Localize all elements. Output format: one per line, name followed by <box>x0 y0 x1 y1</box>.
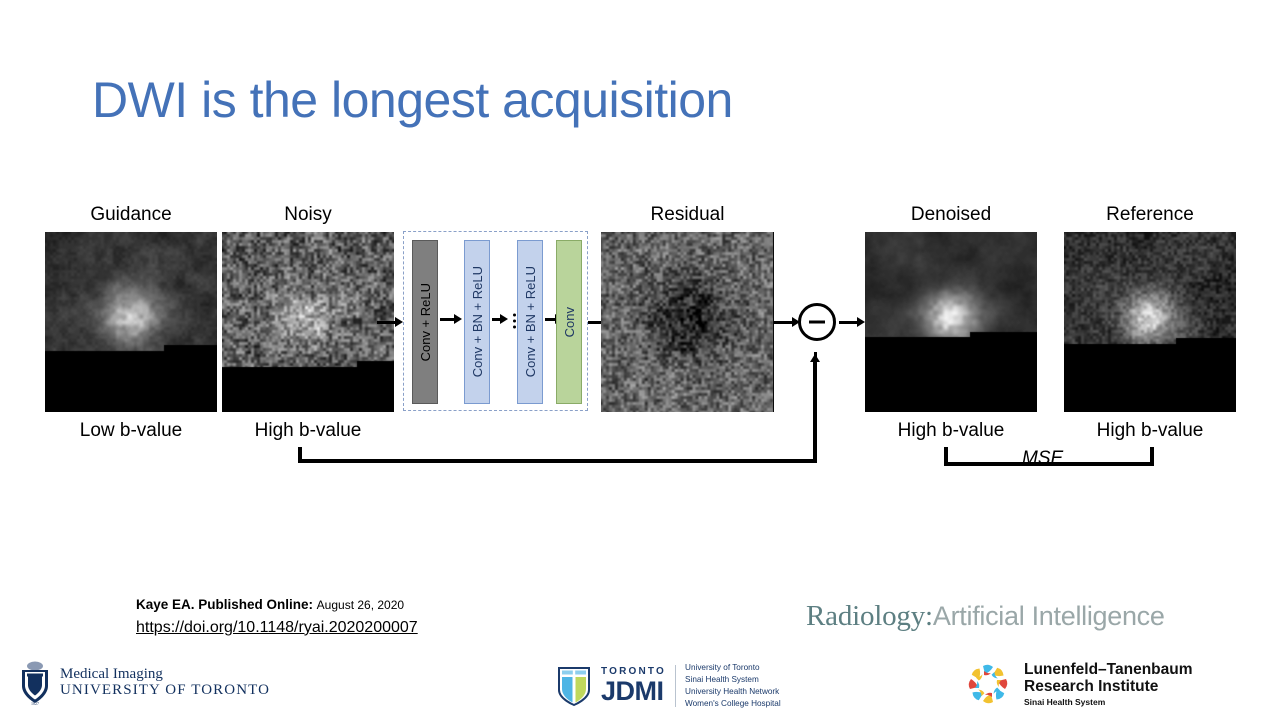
jdmi-shield-icon <box>556 664 592 708</box>
panel-noisy-bottom-label: High b-value <box>222 420 394 442</box>
jdmi-partner-1: University of Toronto <box>685 662 781 674</box>
network-layer-3: Conv + BN + ReLU <box>517 240 543 404</box>
cnn-block: Conv + ReLU Conv + BN + ReLU Conv + BN +… <box>403 231 588 411</box>
jdmi-wordmark: TORONTO JDMI <box>601 667 666 705</box>
network-layer-4-label: Conv <box>562 307 577 337</box>
citation-line-1: Kaye EA. Published Online: August 26, 20… <box>136 595 418 615</box>
panel-denoised-top-label: Denoised <box>865 204 1037 226</box>
jdmi-acronym: JDMI <box>601 678 666 705</box>
skip-connection-up <box>813 360 817 460</box>
jdmi-partner-3: University Health Network <box>685 686 781 698</box>
mri-image-reference <box>1064 232 1236 412</box>
jdmi-divider <box>675 665 676 707</box>
arrow-residual-to-subtract <box>774 317 800 327</box>
panel-guidance-top-label: Guidance <box>45 204 217 226</box>
panel-residual-top-label: Residual <box>601 204 774 226</box>
arrow-noisy-to-network <box>377 317 403 327</box>
uoft-crest-icon: 1827 <box>18 660 52 706</box>
lunenfeld-petal-icon <box>962 660 1014 708</box>
lunenfeld-wordmark: Lunenfeld–Tanenbaum Research Institute S… <box>1024 661 1193 708</box>
subtract-operator-node <box>798 303 836 341</box>
page-title: DWI is the longest acquisition <box>92 72 733 130</box>
lunenfeld-line-3: Sinai Health System <box>1024 697 1193 707</box>
citation-doi-link[interactable]: https://doi.org/10.1148/ryai.2020200007 <box>136 616 418 639</box>
svg-text:1827: 1827 <box>31 701 39 706</box>
network-layer-2: Conv + BN + ReLU <box>464 240 490 404</box>
radiology-ai-logo: Radiology:Artificial Intelligence <box>806 600 1165 633</box>
lunenfeld-line-1: Lunenfeld–Tanenbaum <box>1024 661 1193 678</box>
network-layer-4: Conv <box>556 240 582 404</box>
network-layer-1: Conv + ReLU <box>412 240 438 404</box>
citation-date: August 26, 2020 <box>317 598 404 612</box>
jdmi-partner-4: Women's College Hospital <box>685 698 781 710</box>
arrow-skip-to-subtract <box>810 346 820 362</box>
network-layer-2-label: Conv + BN + ReLU <box>470 266 485 377</box>
citation-author: Kaye EA. Published Online: <box>136 597 313 612</box>
uoft-wordmark: Medical Imaging UNIVERSITY OF TORONTO <box>60 667 270 700</box>
mse-bracket-right <box>1150 447 1154 466</box>
network-layer-3-label: Conv + BN + ReLU <box>523 266 538 377</box>
pipeline-figure: Guidance Low b-value Noisy High b-value … <box>0 200 1280 490</box>
mri-image-denoised <box>865 232 1037 412</box>
uoft-line-1: Medical Imaging <box>60 667 270 683</box>
artificial-intelligence-wordmark: Artificial Intelligence <box>933 601 1165 631</box>
mri-image-residual <box>601 232 774 412</box>
panel-reference-top-label: Reference <box>1064 204 1236 226</box>
jdmi-partner-list: University of Toronto Sinai Health Syste… <box>685 662 781 710</box>
minus-icon <box>809 321 825 324</box>
uoft-line-2: UNIVERSITY OF TORONTO <box>60 682 270 699</box>
panel-noisy-top-label: Noisy <box>222 204 394 226</box>
arrow-subtract-to-denoised <box>839 317 865 327</box>
network-layer-1-label: Conv + ReLU <box>418 283 433 361</box>
mri-image-guidance <box>45 232 217 412</box>
jdmi-partner-2: Sinai Health System <box>685 674 781 686</box>
lunenfeld-line-2: Research Institute <box>1024 678 1193 695</box>
lunenfeld-tanenbaum-logo: Lunenfeld–Tanenbaum Research Institute S… <box>962 660 1193 708</box>
jdmi-logo: TORONTO JDMI University of Toronto Sinai… <box>556 662 781 710</box>
arrow-layer2-to-ellipsis <box>492 314 507 324</box>
skip-connection-horizontal <box>298 459 817 463</box>
panel-reference-bottom-label: High b-value <box>1064 420 1236 442</box>
panel-guidance-bottom-label: Low b-value <box>45 420 217 442</box>
panel-denoised-bottom-label: High b-value <box>865 420 1037 442</box>
mri-image-noisy <box>222 232 394 412</box>
arrow-layer1-to-layer2 <box>440 314 462 324</box>
slide-canvas: DWI is the longest acquisition Guidance … <box>0 0 1280 720</box>
uoft-medical-imaging-logo: 1827 Medical Imaging UNIVERSITY OF TORON… <box>18 660 270 706</box>
mse-label: MSE <box>1022 448 1063 470</box>
radiology-wordmark: Radiology: <box>806 600 933 632</box>
citation: Kaye EA. Published Online: August 26, 20… <box>136 595 418 639</box>
